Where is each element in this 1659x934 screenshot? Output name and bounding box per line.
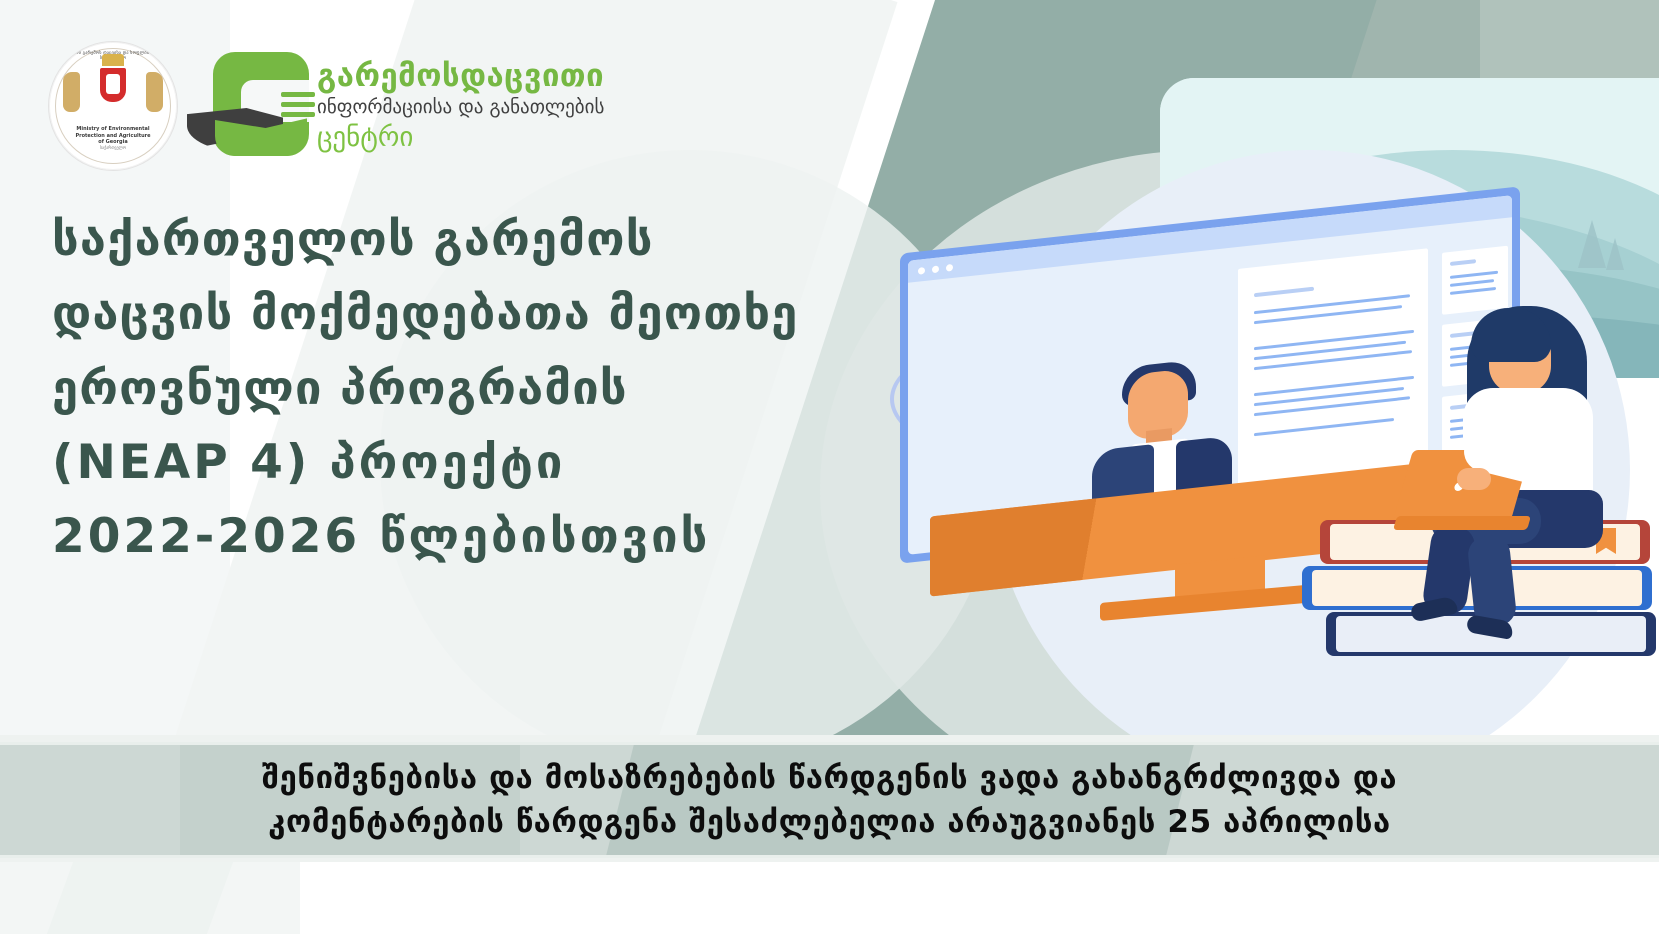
banner-line-2: კომენტარების წარდგენა შესაძლებელია არაუგ… [268, 800, 1391, 844]
seal-lion-right-icon [146, 72, 163, 112]
eiec-mark-bar [281, 112, 315, 117]
document-text-line [1254, 294, 1410, 314]
announcement-banner: შენიშვნებისა და მოსაზრებების წარდგენის ვ… [0, 742, 1659, 858]
poster-canvas: საქართველოს გარემოს დაცვისა და სოფლის მე… [0, 0, 1659, 934]
seal-en-line4: საქართველო [49, 145, 177, 150]
header-logos: საქართველოს გარემოს დაცვისა და სოფლის მე… [0, 0, 620, 180]
headline-line-1: საქართველოს გარემოს [52, 203, 812, 277]
eiec-logo: გარემოსდაცვითი ინფორმაციისა და განათლები… [213, 52, 613, 162]
online-document-review-illustration [860, 120, 1659, 680]
headline-line-5: 2022-2026 წლებისთვის [52, 500, 812, 574]
headline-line-2: დაცვის მოქმედებათა მეოთხე [52, 277, 812, 351]
document-text-line [1254, 330, 1414, 350]
banner-text-block: შენიშვნებისა და მოსაზრებების წარდგენის ვ… [0, 745, 1659, 855]
seal-shield-icon [100, 68, 126, 102]
seal-lion-left-icon [63, 72, 80, 112]
footer-diagonal-accent [47, 862, 233, 934]
headline-line-4: (NEAP 4) პროექტი [52, 426, 812, 500]
eiec-logo-line1: გარემოსდაცვითი [317, 58, 604, 94]
woman-hand [1457, 468, 1491, 490]
headline-block: საქართველოს გარემოს დაცვის მოქმედებათა მ… [52, 203, 812, 574]
document-text-line [1450, 279, 1494, 287]
woman-with-laptop-figure [1405, 300, 1659, 630]
document-heading-line [1450, 259, 1476, 266]
seal-english-caption: Ministry of Environmental Protection and… [49, 126, 177, 150]
window-dot-icon [918, 267, 925, 275]
document-text-line [1450, 287, 1496, 295]
woman-shin-right [1466, 534, 1517, 628]
window-dot-icon [946, 264, 953, 272]
window-dot-icon [932, 265, 939, 273]
woman-shoe [1410, 595, 1459, 622]
laptop-base [1393, 516, 1531, 530]
eiec-logo-line3: ცენტრი [317, 122, 413, 153]
eiec-mark-bar [281, 92, 315, 97]
headline-line-3: ეროვნული პროგრამის [52, 352, 812, 426]
ministry-seal-logo: საქართველოს გარემოს დაცვისა და სოფლის მე… [48, 41, 178, 171]
eiec-mark-bar [281, 102, 315, 107]
eiec-logo-line2: ინფორმაციისა და განათლების [317, 96, 604, 118]
document-text-line [1254, 376, 1414, 396]
seal-crown-icon [102, 54, 124, 66]
document-heading-line [1254, 287, 1314, 298]
document-text-line [1450, 271, 1498, 279]
eiec-logo-mark-icon [213, 52, 309, 156]
banner-line-1: შენიშვნებისა და მოსაზრებების წარდგენის ვ… [262, 756, 1397, 800]
